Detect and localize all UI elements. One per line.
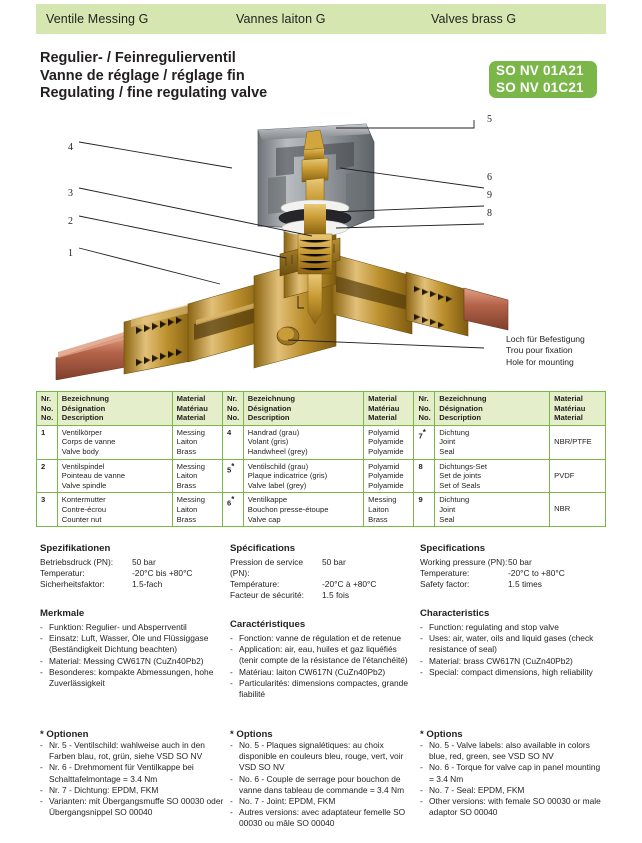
spec-title-fr: Spécifications xyxy=(230,543,415,554)
option-item: No. 5 - Valve labels: also available in … xyxy=(420,740,605,762)
option-list-fr: No. 5 - Plaques signalétiques: au choix … xyxy=(230,740,415,830)
spec-columns: Spezifikationen Betriebsdruck (PN):50 ba… xyxy=(40,543,606,838)
parts-table: Nr.No.No. BezeichnungDésignationDescript… xyxy=(36,391,606,527)
option-item: Nr. 7 - Dichtung: EPDM, FKM xyxy=(40,785,225,796)
spec-key: Pression de service (PN): xyxy=(230,557,322,579)
features-title-fr: Caractéristiques xyxy=(230,619,415,630)
option-item: No. 6 - Couple de serrage pour bouchon d… xyxy=(230,774,415,796)
part-material-cell: MessingLaitonBrass xyxy=(172,459,222,493)
header-nr-2: Nr.No.No. xyxy=(223,392,244,426)
part-description-cell: VentilkappeBouchon presse-étoupeValve ca… xyxy=(243,493,363,527)
spec-row: Pression de service (PN):50 bar xyxy=(230,557,415,579)
table-row: 2VentilspindelPointeau de vanneValve spi… xyxy=(37,459,606,493)
header-label-de: Ventile Messing G xyxy=(46,12,236,26)
spec-value: 1.5-fach xyxy=(132,579,225,590)
spec-column-de: Spezifikationen Betriebsdruck (PN):50 ba… xyxy=(40,543,225,689)
part-number-cell: 1 xyxy=(37,425,58,459)
feature-item: Application: air, eau, huiles et gaz liq… xyxy=(230,644,415,666)
part-number-cell: 8 xyxy=(414,459,435,493)
mounting-hole-note: Loch für Befestigung Trou pour fixation … xyxy=(506,334,626,368)
options-block-de: * Optionen Nr. 5 - Ventilschild: wahlwei… xyxy=(40,729,225,818)
spec-key: Température: xyxy=(230,579,322,590)
language-header-bar: Ventile Messing G Vannes laiton G Valves… xyxy=(36,4,606,34)
spec-title-de: Spezifikationen xyxy=(40,543,225,554)
callout-1: 1 xyxy=(68,248,73,259)
product-code-2: SO NV 01C21 xyxy=(496,80,597,97)
part-material-cell: NBR/PTFE xyxy=(550,425,606,459)
option-item: No. 7 - Seal: EPDM, FKM xyxy=(420,785,605,796)
page-title: Regulier- / Feinregulierventil Vanne de … xyxy=(40,50,440,103)
feature-list-en: Function: regulating and stop valveUses:… xyxy=(420,622,605,678)
spec-value: 1.5 fois xyxy=(322,590,415,601)
option-item: Nr. 5 - Ventilschild: wahlweise auch in … xyxy=(40,740,225,762)
spec-value: -20°C to +80°C xyxy=(508,568,605,579)
option-item: Autres versions: avec adaptateur femelle… xyxy=(230,807,415,829)
option-list-en: No. 5 - Valve labels: also available in … xyxy=(420,740,605,818)
part-number-cell: 6* xyxy=(223,493,244,527)
callout-9: 9 xyxy=(487,190,492,201)
options-block-en: * Options No. 5 - Valve labels: also ava… xyxy=(420,729,605,818)
header-mat-2: MaterialMatériauMaterial xyxy=(364,392,414,426)
part-number-cell: 7* xyxy=(414,425,435,459)
datasheet-page: Ventile Messing G Vannes laiton G Valves… xyxy=(0,0,642,843)
product-code-badge: SO NV 01A21 SO NV 01C21 xyxy=(489,61,597,98)
mount-note-de: Loch für Befestigung xyxy=(506,334,626,345)
part-description-cell: DichtungJointSeal xyxy=(435,425,550,459)
part-material-cell: MessingLaitonBrass xyxy=(172,425,222,459)
table-row: 3KontermutterContre-écrouCounter nutMess… xyxy=(37,493,606,527)
spec-value: 50 bar xyxy=(132,557,225,568)
part-material-cell: PolyamidPolyamidePolyamide xyxy=(364,459,414,493)
header-label-fr: Vannes laiton G xyxy=(236,12,431,26)
spec-row: Temperature:-20°C to +80°C xyxy=(420,568,605,579)
spec-row: Working pressure (PN):50 bar xyxy=(420,557,605,568)
feature-item: Funktion: Regulier- und Absperrventil xyxy=(40,622,225,633)
option-item: Varianten: mit Übergangsmuffe SO 00030 o… xyxy=(40,796,225,818)
options-block-fr: * Options No. 5 - Plaques signalétiques:… xyxy=(230,729,415,830)
option-item: Nr. 6 - Drehmoment für Ventilkappe bei S… xyxy=(40,762,225,784)
part-description-cell: Ventilschild (grau)Plaque indicatrice (g… xyxy=(243,459,363,493)
spec-value: 50 bar xyxy=(322,557,415,579)
part-description-cell: KontermutterContre-écrouCounter nut xyxy=(57,493,172,527)
feature-item: Einsatz: Luft, Wasser, Öle und Flüssigga… xyxy=(40,633,225,655)
options-title-fr: * Options xyxy=(230,729,415,740)
option-item: No. 6 - Torque for valve cap in panel mo… xyxy=(420,762,605,784)
spec-column-en: Specifications Working pressure (PN):50 … xyxy=(420,543,605,678)
features-title-en: Characteristics xyxy=(420,608,605,619)
title-line-de: Regulier- / Feinregulierventil xyxy=(40,50,440,68)
callout-2: 2 xyxy=(68,216,73,227)
mount-note-fr: Trou pour fixation xyxy=(506,345,626,356)
spec-list-fr: Pression de service (PN):50 barTempératu… xyxy=(230,557,415,601)
part-description-cell: Dichtungs-SetSet de jointsSet of Seals xyxy=(435,459,550,493)
spec-key: Temperatur: xyxy=(40,568,132,579)
spec-row: Sicherheitsfaktor:1.5-fach xyxy=(40,579,225,590)
header-mat-1: MaterialMatériauMaterial xyxy=(172,392,222,426)
callout-5: 5 xyxy=(487,114,492,125)
part-description-cell: VentilkörperCorps de vanneValve body xyxy=(57,425,172,459)
feature-item: Particularités: dimensions compactes, gr… xyxy=(230,678,415,700)
title-line-fr: Vanne de réglage / réglage fin xyxy=(40,68,440,86)
header-nr-1: Nr.No.No. xyxy=(37,392,58,426)
part-material-cell: PolyamidPolyamidePolyamide xyxy=(364,425,414,459)
header-mat-3: MaterialMatériauMaterial xyxy=(550,392,606,426)
spec-value: 1.5 times xyxy=(508,579,605,590)
spec-row: Safety factor:1.5 times xyxy=(420,579,605,590)
feature-item: Function: regulating and stop valve xyxy=(420,622,605,633)
feature-list-de: Funktion: Regulier- und AbsperrventilEin… xyxy=(40,622,225,689)
header-desc-3: BezeichnungDésignationDescription xyxy=(435,392,550,426)
spec-key: Working pressure (PN): xyxy=(420,557,508,568)
spec-list-de: Betriebsdruck (PN):50 barTemperatur:-20°… xyxy=(40,557,225,590)
callout-6: 6 xyxy=(487,172,492,183)
header-label-en: Valves brass G xyxy=(431,12,601,26)
spec-row: Temperatur:-20°C bis +80°C xyxy=(40,568,225,579)
feature-item: Special: compact dimensions, high reliab… xyxy=(420,667,605,678)
table-row: 1VentilkörperCorps de vanneValve bodyMes… xyxy=(37,425,606,459)
part-description-cell: Handrad (grau)Volant (gris)Handwheel (gr… xyxy=(243,425,363,459)
part-number-cell: 9 xyxy=(414,493,435,527)
part-description-cell: VentilspindelPointeau de vanneValve spin… xyxy=(57,459,172,493)
part-number-cell: 3 xyxy=(37,493,58,527)
part-material-cell: PVDF xyxy=(550,459,606,493)
part-number-cell: 2 xyxy=(37,459,58,493)
part-material-cell: MessingLaitonBrass xyxy=(364,493,414,527)
callout-8: 8 xyxy=(487,208,492,219)
spec-list-en: Working pressure (PN):50 barTemperature:… xyxy=(420,557,605,590)
spec-value: -20°C bis +80°C xyxy=(132,568,225,579)
spec-value: -20°C à +80°C xyxy=(322,579,415,590)
union-nut-right xyxy=(406,272,468,336)
spec-row: Température:-20°C à +80°C xyxy=(230,579,415,590)
part-number-cell: 4 xyxy=(223,425,244,459)
spec-column-fr: Spécifications Pression de service (PN):… xyxy=(230,543,415,700)
feature-item: Material: brass CW617N (CuZn40Pb2) xyxy=(420,656,605,667)
feature-item: Besonderes: kompakte Abmessungen, hohe Z… xyxy=(40,667,225,689)
feature-item: Matériau: laiton CW617N (CuZn40Pb2) xyxy=(230,667,415,678)
spec-key: Betriebsdruck (PN): xyxy=(40,557,132,568)
spec-value: 50 bar xyxy=(508,557,605,568)
options-title-de: * Optionen xyxy=(40,729,225,740)
feature-item: Fonction: vanne de régulation et de rete… xyxy=(230,633,415,644)
spec-row: Facteur de sécurité:1.5 fois xyxy=(230,590,415,601)
header-nr-3: Nr.No.No. xyxy=(414,392,435,426)
title-line-en: Regulating / fine regulating valve xyxy=(40,85,440,103)
part-material-cell: NBR xyxy=(550,493,606,527)
spec-title-en: Specifications xyxy=(420,543,605,554)
mount-note-en: Hole for mounting xyxy=(506,357,626,368)
feature-list-fr: Fonction: vanne de régulation et de rete… xyxy=(230,633,415,700)
part-number-cell: 5* xyxy=(223,459,244,493)
header-desc-1: BezeichnungDésignationDescription xyxy=(57,392,172,426)
callout-3: 3 xyxy=(68,188,73,199)
header-desc-2: BezeichnungDésignationDescription xyxy=(243,392,363,426)
spec-key: Safety factor: xyxy=(420,579,508,590)
part-material-cell: MessingLaitonBrass xyxy=(172,493,222,527)
spec-row: Betriebsdruck (PN):50 bar xyxy=(40,557,225,568)
features-title-de: Merkmale xyxy=(40,608,225,619)
part-description-cell: DichtungJointSeal xyxy=(435,493,550,527)
table-header-row: Nr.No.No. BezeichnungDésignationDescript… xyxy=(37,392,606,426)
spec-key: Sicherheitsfaktor: xyxy=(40,579,132,590)
option-item: No. 7 - Joint: EPDM, FKM xyxy=(230,796,415,807)
option-item: No. 5 - Plaques signalétiques: au choix … xyxy=(230,740,415,774)
product-code-1: SO NV 01A21 xyxy=(496,63,597,80)
callout-4: 4 xyxy=(68,142,73,153)
pipe-right-copper xyxy=(464,288,508,330)
spec-key: Facteur de sécurité: xyxy=(230,590,322,601)
options-title-en: * Options xyxy=(420,729,605,740)
feature-item: Material: Messing CW617N (CuZn40Pb2) xyxy=(40,656,225,667)
option-list-de: Nr. 5 - Ventilschild: wahlweise auch in … xyxy=(40,740,225,818)
spec-key: Temperature: xyxy=(420,568,508,579)
option-item: Other versions: with female SO 00030 or … xyxy=(420,796,605,818)
feature-item: Uses: air, water, oils and liquid gases … xyxy=(420,633,605,655)
